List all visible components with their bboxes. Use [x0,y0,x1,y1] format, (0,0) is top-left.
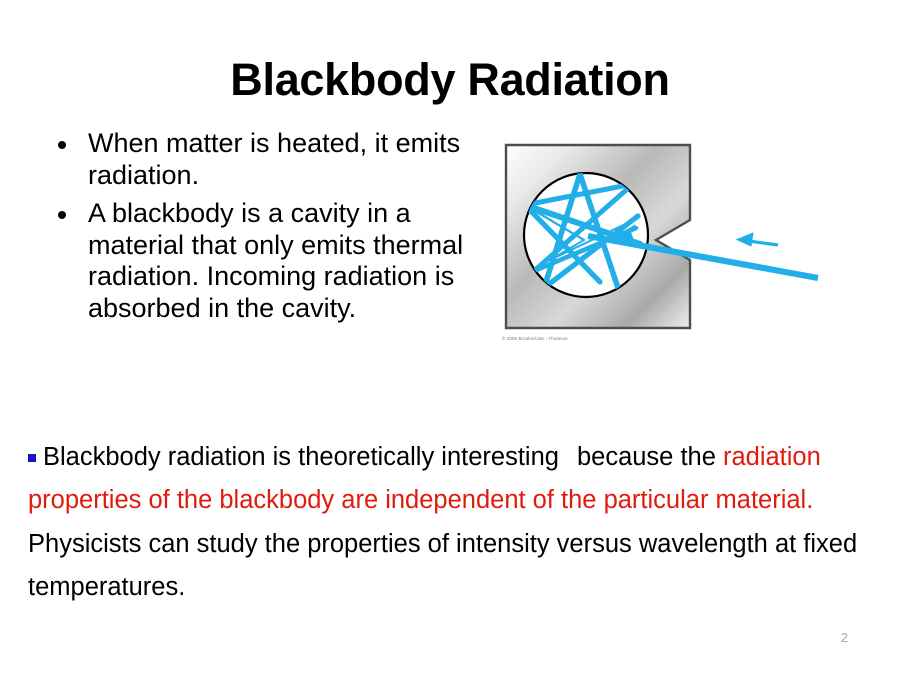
cavity-diagram-svg [488,132,828,357]
page-title: Blackbody Radiation [0,56,900,103]
list-item-text: A blackbody is a cavity in a material th… [88,198,463,324]
figure-credit: © 2006 Brooks/Cole - Thomson [502,336,568,341]
bullet-list: When matter is heated, it emits radiatio… [48,128,468,331]
list-item-text: When matter is heated, it emits radiatio… [88,128,460,190]
slide-canvas: Blackbody Radiation When matter is heate… [0,0,900,675]
list-item: A blackbody is a cavity in a material th… [48,198,468,325]
body-paragraph: Blackbody radiation is theoretically int… [28,436,870,609]
round-bullet-icon [58,141,66,149]
page-number: 2 [841,630,848,645]
list-item: When matter is heated, it emits radiatio… [48,128,468,192]
round-bullet-icon [58,211,66,219]
direction-arrow-icon [737,233,778,246]
paragraph-segment-1: Blackbody radiation is theoretically int… [43,443,559,471]
paragraph-segment-2: because the [577,443,723,471]
paragraph-segment-4: Physicists can study the properties of i… [28,530,857,601]
square-bullet-icon [28,454,36,462]
blackbody-cavity-diagram: © 2006 Brooks/Cole - Thomson [488,132,828,357]
